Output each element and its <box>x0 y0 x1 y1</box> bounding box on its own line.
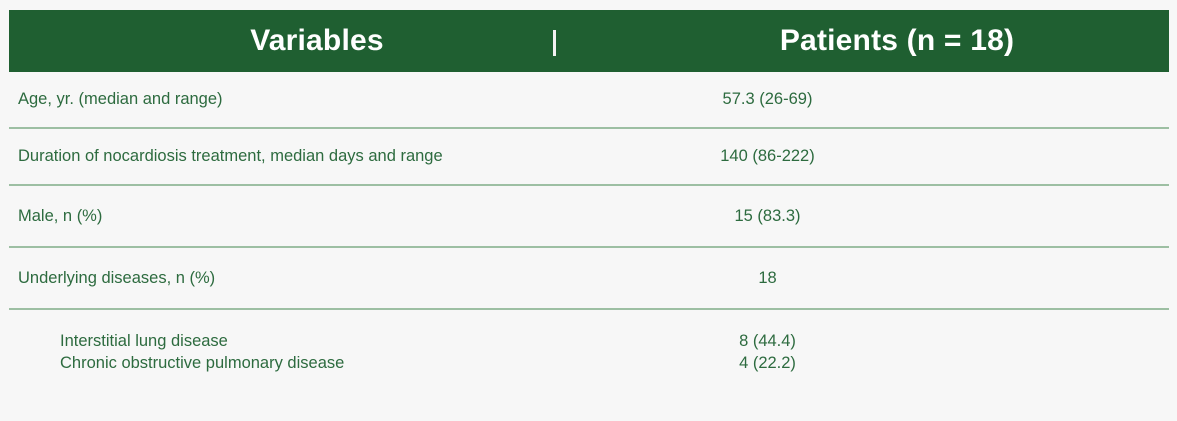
table-row: Duration of nocardiosis treatment, media… <box>9 129 1169 186</box>
subrow-label: Interstitial lung disease <box>18 330 625 352</box>
table-body: Age, yr. (median and range) 57.3 (26-69)… <box>9 72 1169 408</box>
table-row-subgroup: Interstitial lung disease Chronic obstru… <box>9 310 1169 408</box>
row-value: 18 <box>625 269 1169 288</box>
row-label: Age, yr. (median and range) <box>9 90 625 109</box>
text-cursor-icon <box>553 30 556 56</box>
table-row: Underlying diseases, n (%) 18 <box>9 248 1169 310</box>
subrow-value: 8 (44.4) <box>625 330 910 352</box>
row-label: Underlying diseases, n (%) <box>9 269 625 288</box>
subrow-value: 4 (22.2) <box>625 352 910 374</box>
subrow-label: Chronic obstructive pulmonary disease <box>18 352 625 374</box>
table-row: Male, n (%) 15 (83.3) <box>9 186 1169 248</box>
row-value: 57.3 (26-69) <box>625 90 1169 109</box>
row-label: Male, n (%) <box>9 207 625 226</box>
table-row: Age, yr. (median and range) 57.3 (26-69) <box>9 72 1169 129</box>
table-header-row: Variables Patients (n = 18) <box>9 10 1169 72</box>
subrow-label-group: Interstitial lung disease Chronic obstru… <box>9 310 625 374</box>
clinical-characteristics-table: Variables Patients (n = 18) Age, yr. (me… <box>9 10 1169 410</box>
row-label: Duration of nocardiosis treatment, media… <box>9 147 625 166</box>
column-header-patients: Patients (n = 18) <box>625 10 1169 72</box>
row-value: 15 (83.3) <box>625 207 1169 226</box>
subrow-value-group: 8 (44.4) 4 (22.2) <box>625 310 1169 374</box>
column-header-variables: Variables <box>9 10 625 72</box>
row-value: 140 (86-222) <box>625 147 1169 166</box>
